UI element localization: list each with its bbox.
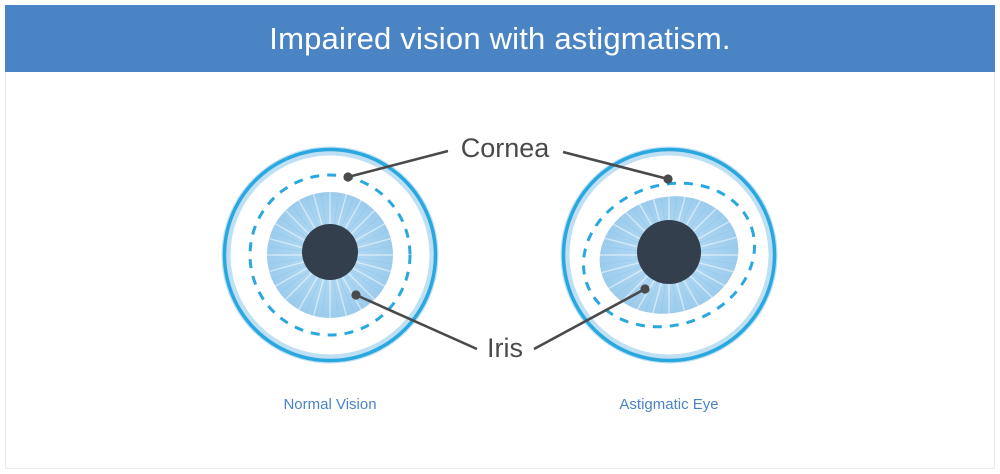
title-banner: Impaired vision with astigmatism. (5, 5, 995, 72)
iris-label: Iris (487, 333, 523, 363)
page-title: Impaired vision with astigmatism. (269, 23, 730, 54)
astigmatic-eye-pupil (637, 220, 701, 284)
infographic-root: Impaired vision with astigmatism. (0, 0, 1000, 474)
iris-anchor-dot-left (351, 290, 360, 299)
astigmatic-eye-caption: Astigmatic Eye (619, 396, 718, 413)
eye-diagram-area: Cornea Iris Normal Vision Astigmatic Eye (5, 72, 995, 469)
normal-eye-pupil (302, 224, 358, 280)
cornea-anchor-dot-left (343, 172, 352, 181)
normal-vision-caption: Normal Vision (283, 396, 376, 413)
cornea-label: Cornea (461, 133, 551, 163)
iris-anchor-dot-right (640, 284, 649, 293)
normal-eye-group (225, 150, 436, 361)
cornea-anchor-dot-right (663, 174, 672, 183)
eye-comparison-diagram: Cornea Iris Normal Vision Astigmatic Eye (5, 72, 995, 469)
